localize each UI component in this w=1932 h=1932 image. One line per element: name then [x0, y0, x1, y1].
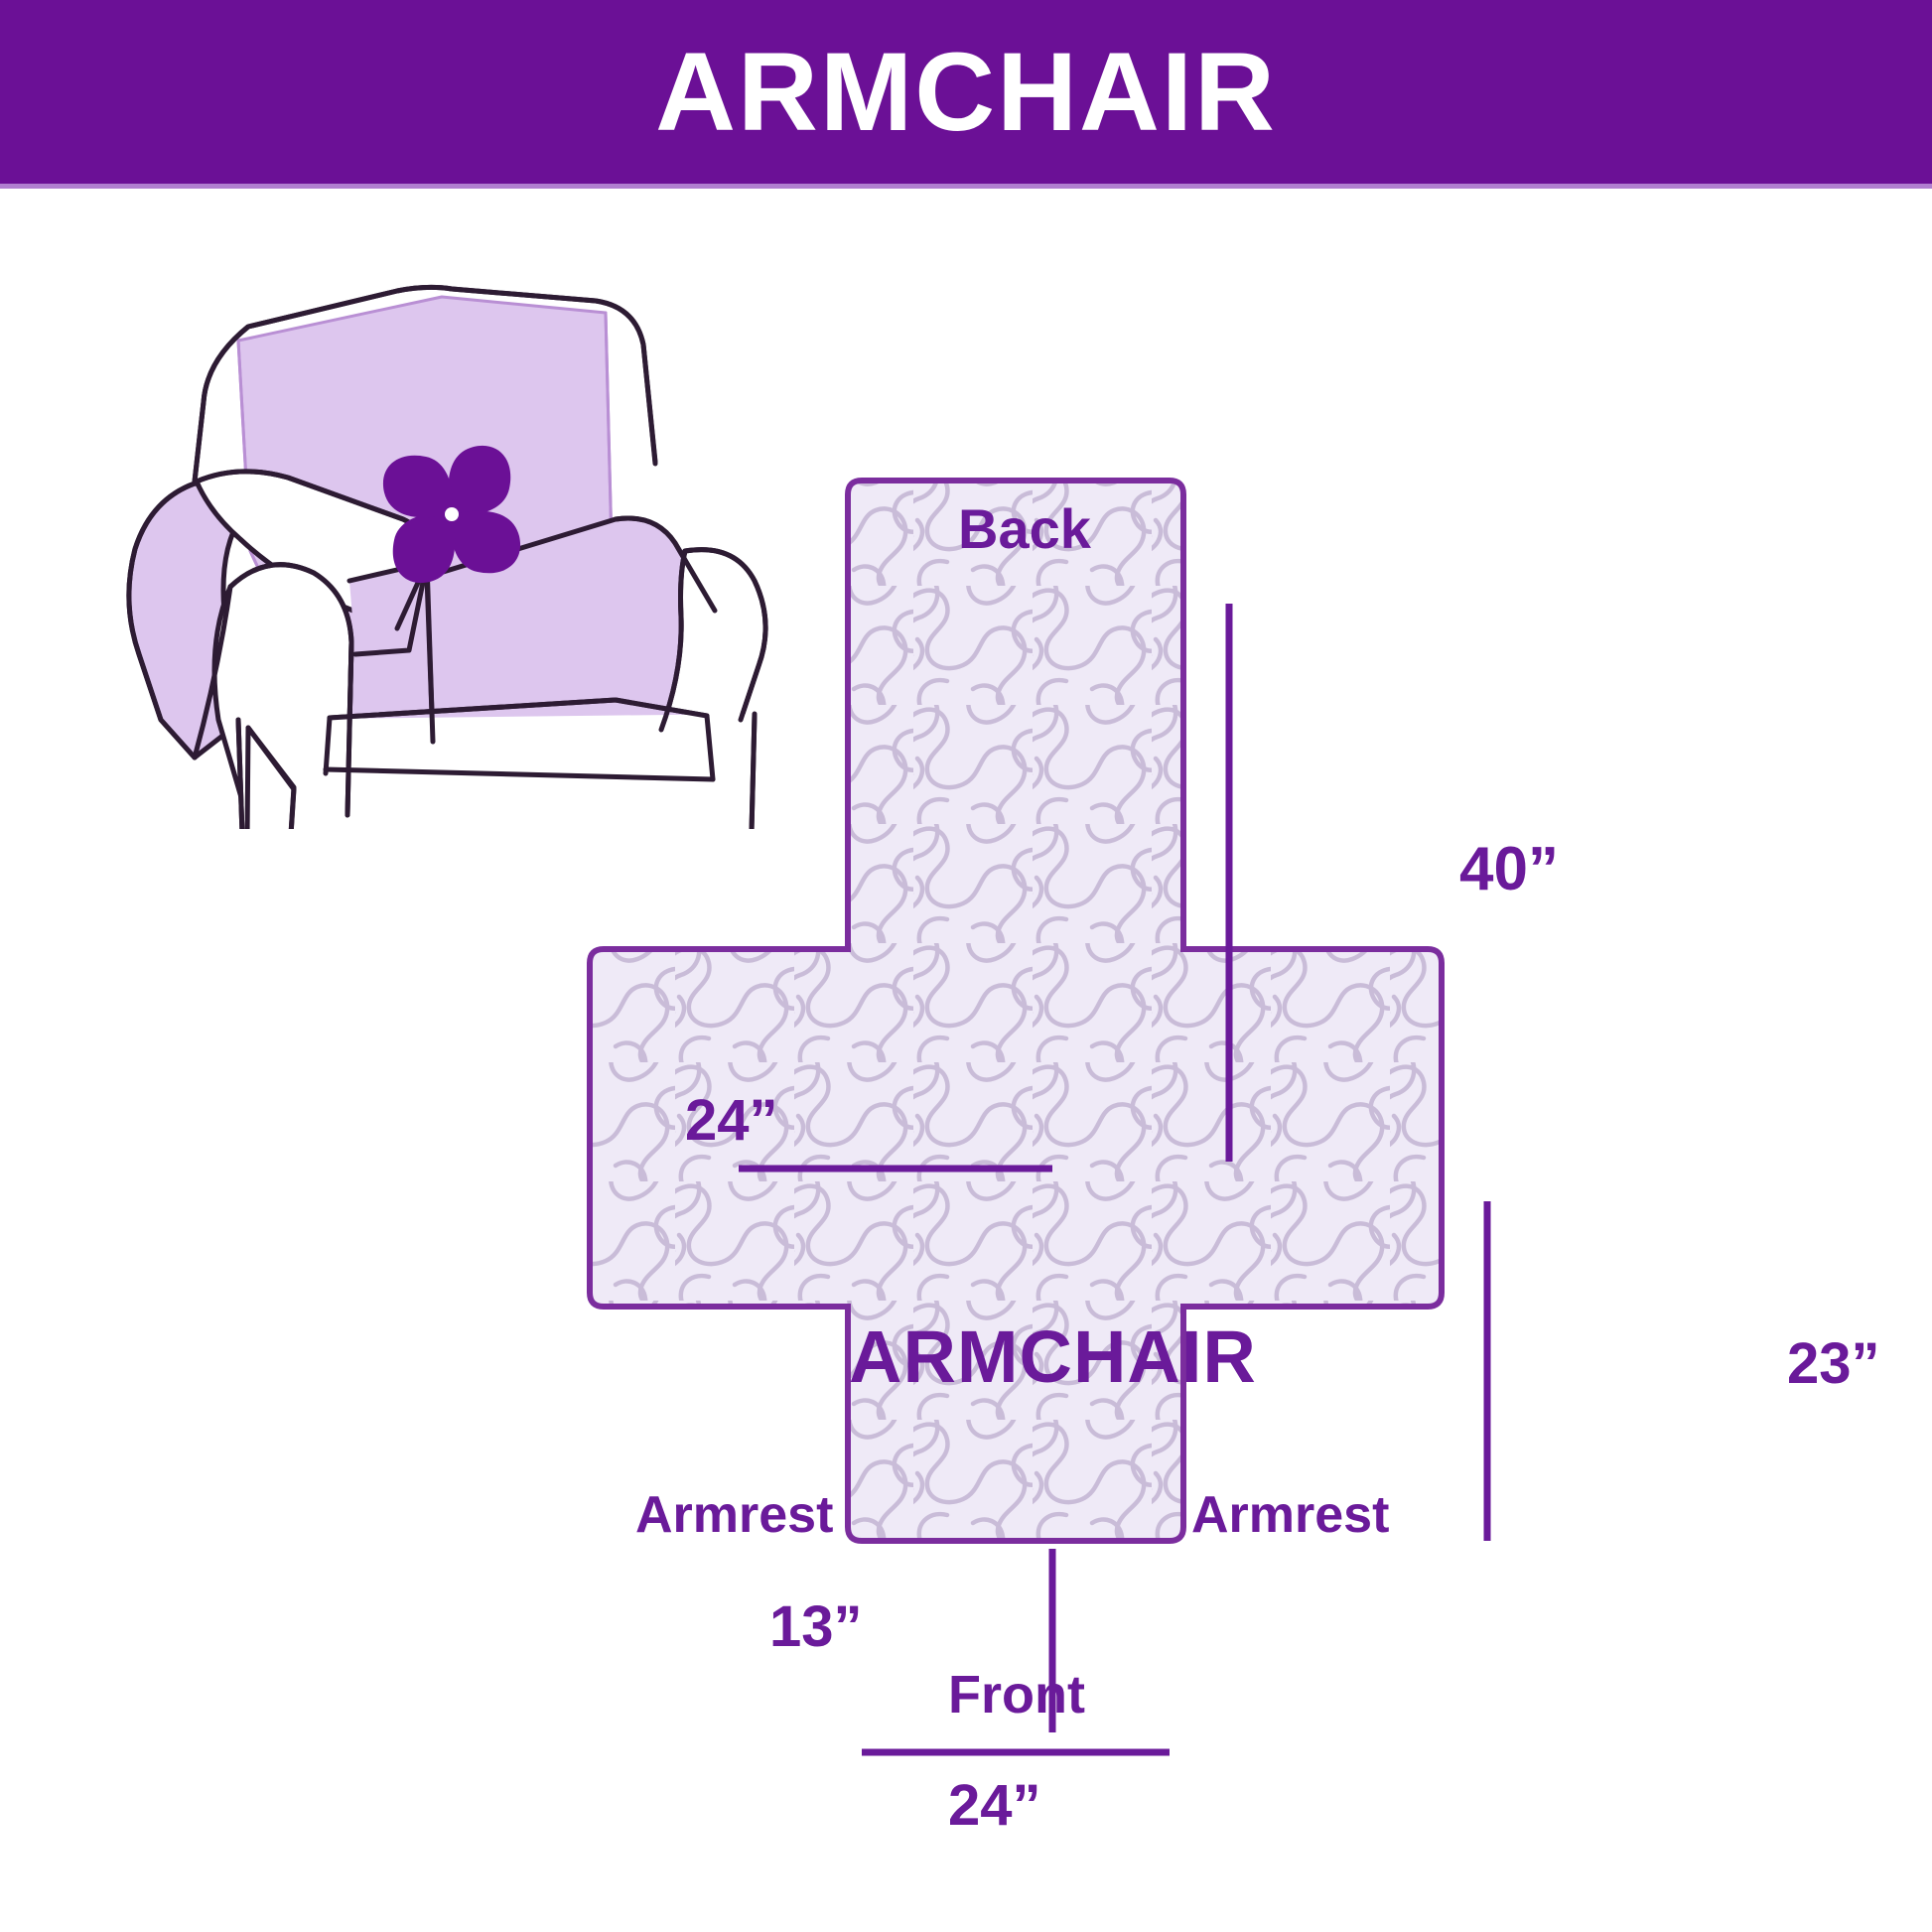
dimension-label-front-width: 24” [948, 1777, 1041, 1835]
panel-label-armrest-left: Armrest [635, 1489, 833, 1541]
dimension-label-back-width: 24” [685, 1092, 778, 1150]
infographic-canvas: ARMCHAIR [0, 0, 1932, 1932]
banner-divider [0, 184, 1932, 189]
panel-label-center: ARMCHAIR [849, 1320, 1257, 1394]
panel-label-back: Back [958, 501, 1091, 557]
page-title: ARMCHAIR [655, 37, 1277, 148]
panel-label-armrest-right: Armrest [1191, 1489, 1389, 1541]
dimension-label-armrest-depth: 23” [1787, 1335, 1880, 1393]
dimension-label-back-height: 40” [1459, 839, 1559, 900]
dimension-label-front-height: 13” [769, 1598, 863, 1656]
header-banner: ARMCHAIR [0, 0, 1932, 184]
panel-label-front: Front [948, 1668, 1085, 1722]
